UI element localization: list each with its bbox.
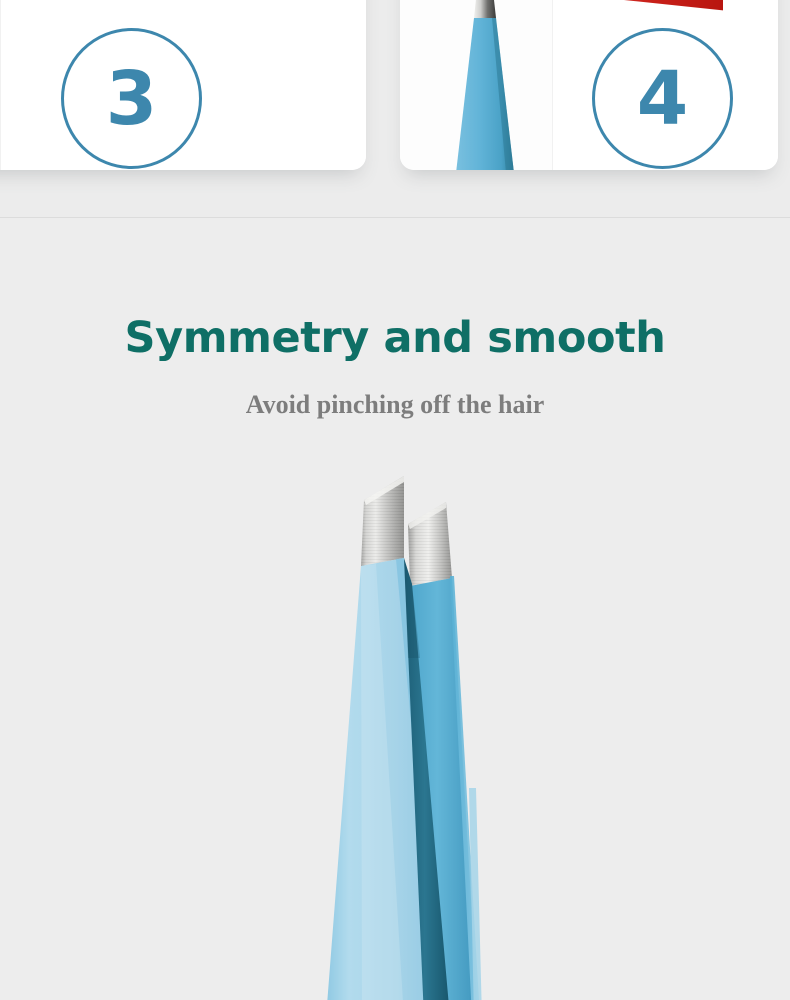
step-number-badge-3: 3 bbox=[61, 28, 202, 169]
feature-card-4-number-panel: 4 bbox=[552, 0, 778, 170]
step-number-3: 3 bbox=[106, 62, 158, 136]
feature-card-group-right[interactable]: 4 bbox=[400, 0, 778, 170]
section-subheadline: Avoid pinching off the hair bbox=[0, 390, 790, 420]
red-ribbon-shape bbox=[563, 0, 723, 10]
numbered-feature-cards-band: 3 bbox=[0, 0, 790, 218]
product-image-tweezer bbox=[300, 458, 520, 1000]
tweezer-illustration bbox=[300, 458, 520, 1000]
pointed-tweezer-icon bbox=[430, 0, 540, 170]
step-number-badge-4: 4 bbox=[592, 28, 733, 169]
feature-card-group-left[interactable]: 3 bbox=[0, 0, 366, 170]
main-feature-section: Symmetry and smooth Avoid pinching off t… bbox=[0, 218, 790, 1000]
feature-card-4-photo bbox=[400, 0, 552, 170]
section-headline: Symmetry and smooth bbox=[0, 313, 790, 363]
feature-card-3-number-panel: 3 bbox=[0, 0, 366, 170]
step-number-4: 4 bbox=[637, 62, 689, 136]
product-detail-page: 3 bbox=[0, 0, 790, 1000]
